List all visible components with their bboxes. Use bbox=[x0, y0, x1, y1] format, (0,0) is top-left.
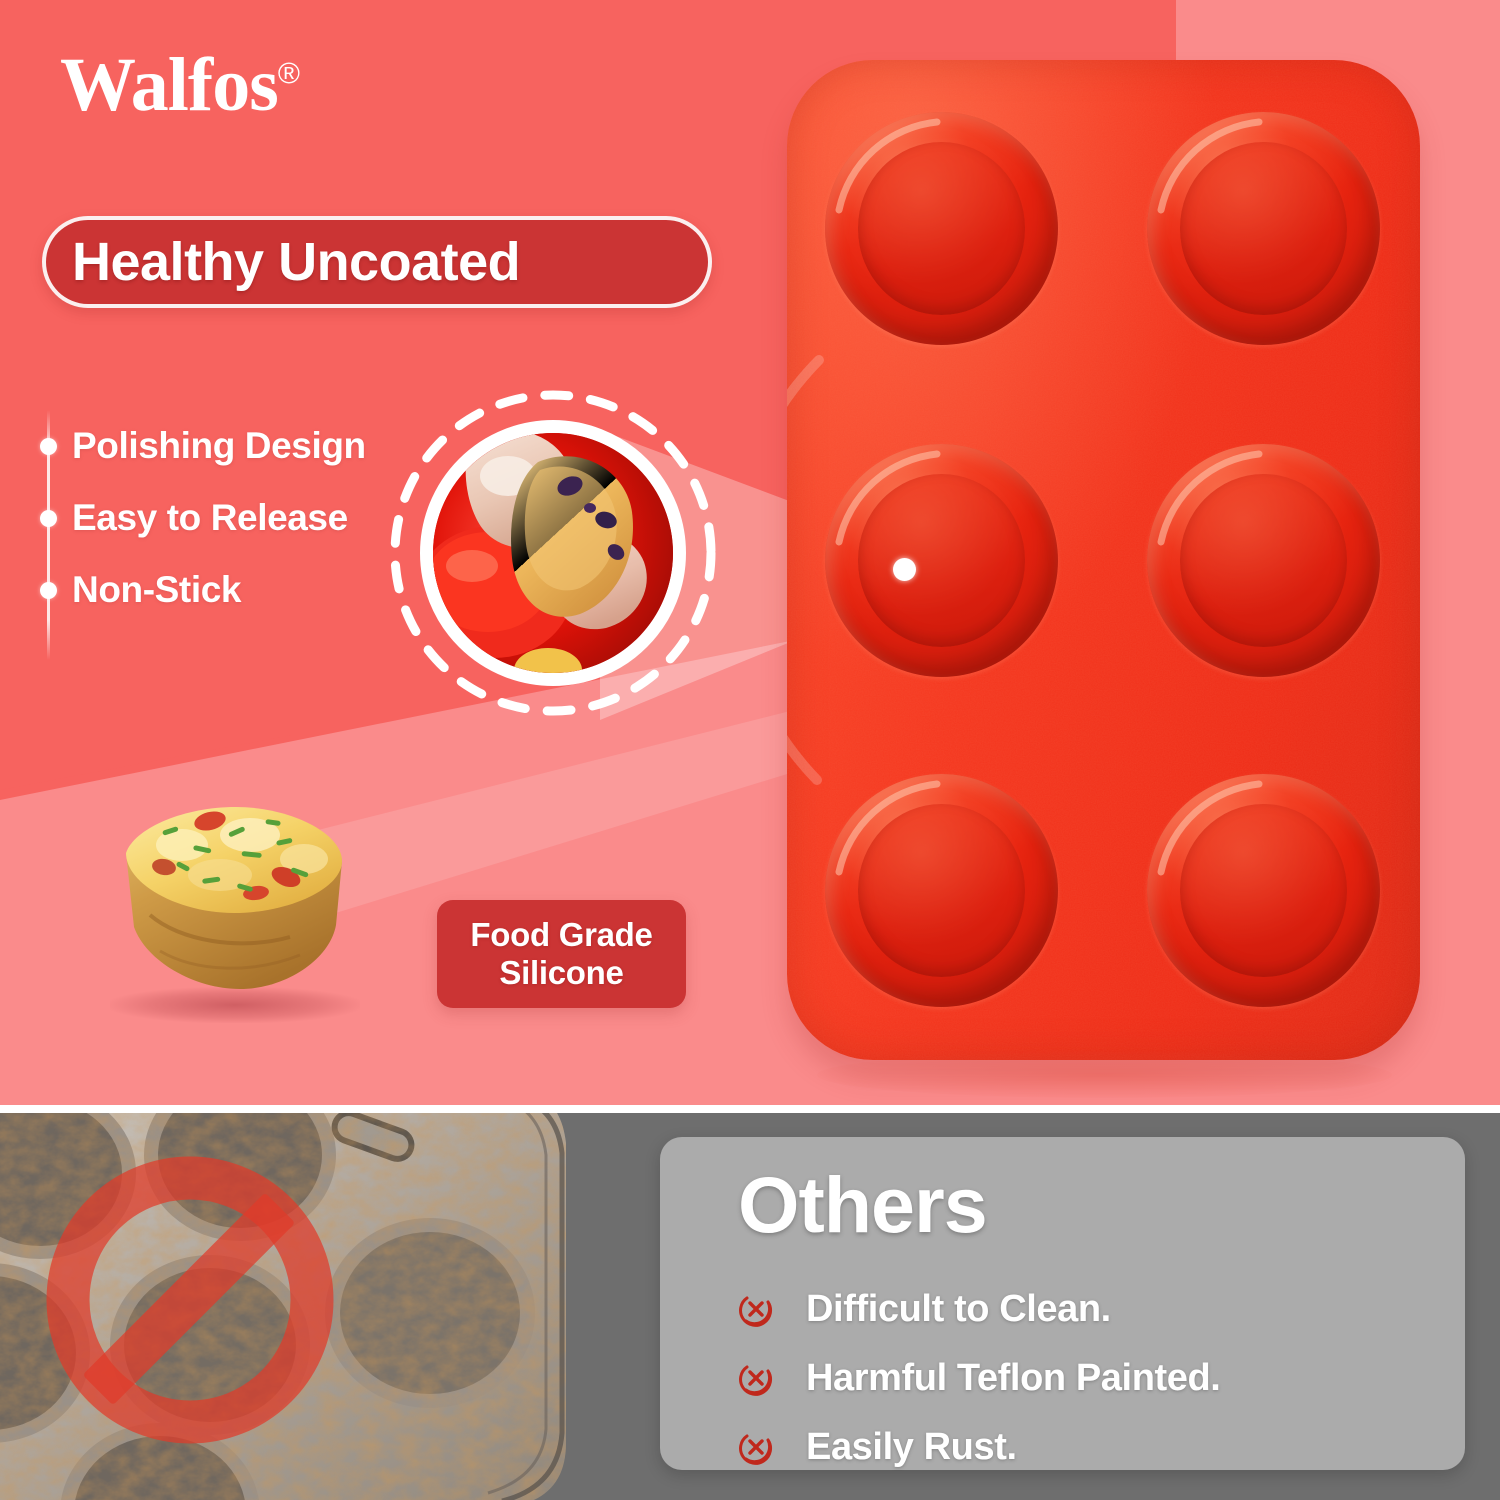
bullet-dot-icon bbox=[40, 438, 57, 455]
brand-logo: Walfos® bbox=[60, 47, 299, 123]
circle-x-icon bbox=[738, 1360, 774, 1396]
circle-x-icon bbox=[738, 1291, 774, 1327]
registered-trademark-icon: ® bbox=[278, 58, 299, 91]
infographic-root: Walfos® Healthy Uncoated Polishing Desig… bbox=[0, 0, 1500, 1500]
others-list-item: Easily Rust. bbox=[738, 1417, 1438, 1477]
brand-logo-text: Walfos bbox=[60, 43, 278, 127]
egg-muffin-graphic bbox=[90, 775, 380, 1025]
material-badge: Food Grade Silicone bbox=[437, 900, 686, 1008]
others-card: Others Difficult to Clean. Harmful Teflo… bbox=[660, 1137, 1465, 1470]
feature-list: Polishing Design Easy to Release Non-Sti… bbox=[36, 410, 396, 626]
silicone-muffin-tray bbox=[787, 60, 1420, 1060]
others-list-item-label: Difficult to Clean. bbox=[806, 1288, 1111, 1331]
feature-label: Non-Stick bbox=[72, 569, 241, 611]
others-list-item-label: Harmful Teflon Painted. bbox=[806, 1357, 1220, 1400]
material-badge-line-1: Food Grade bbox=[470, 916, 652, 954]
callout-pointer-dot bbox=[893, 558, 916, 581]
feature-item: Non-Stick bbox=[36, 554, 396, 626]
others-list-item: Harmful Teflon Painted. bbox=[738, 1348, 1438, 1408]
magnifier-photo bbox=[420, 420, 686, 686]
egg-muffin-image bbox=[90, 775, 380, 1025]
feature-label: Polishing Design bbox=[72, 425, 366, 467]
others-list: Difficult to Clean. Harmful Teflon Paint… bbox=[738, 1279, 1438, 1486]
material-badge-line-2: Silicone bbox=[499, 954, 623, 992]
rusty-pan-image bbox=[0, 1113, 600, 1500]
feature-item: Easy to Release bbox=[36, 482, 396, 554]
bullet-dot-icon bbox=[40, 510, 57, 527]
bullet-dot-icon bbox=[40, 582, 57, 599]
tray-reflection bbox=[817, 1052, 1392, 1098]
bottom-panel: Others Difficult to Clean. Harmful Teflo… bbox=[0, 1113, 1500, 1500]
magnifier-callout bbox=[388, 388, 718, 718]
magnifier-ring bbox=[420, 420, 686, 686]
feature-label: Easy to Release bbox=[72, 497, 348, 539]
top-panel: Walfos® Healthy Uncoated Polishing Desig… bbox=[0, 0, 1500, 1105]
feature-item: Polishing Design bbox=[36, 410, 396, 482]
prohibition-no-symbol-icon bbox=[45, 1155, 335, 1445]
others-list-item: Difficult to Clean. bbox=[738, 1279, 1438, 1339]
headline-badge-label: Healthy Uncoated bbox=[46, 231, 520, 293]
others-title: Others bbox=[738, 1165, 987, 1244]
others-list-item-label: Easily Rust. bbox=[806, 1426, 1017, 1469]
headline-badge: Healthy Uncoated bbox=[42, 216, 712, 308]
tray-gloss bbox=[787, 60, 1420, 1060]
circle-x-icon bbox=[738, 1429, 774, 1465]
